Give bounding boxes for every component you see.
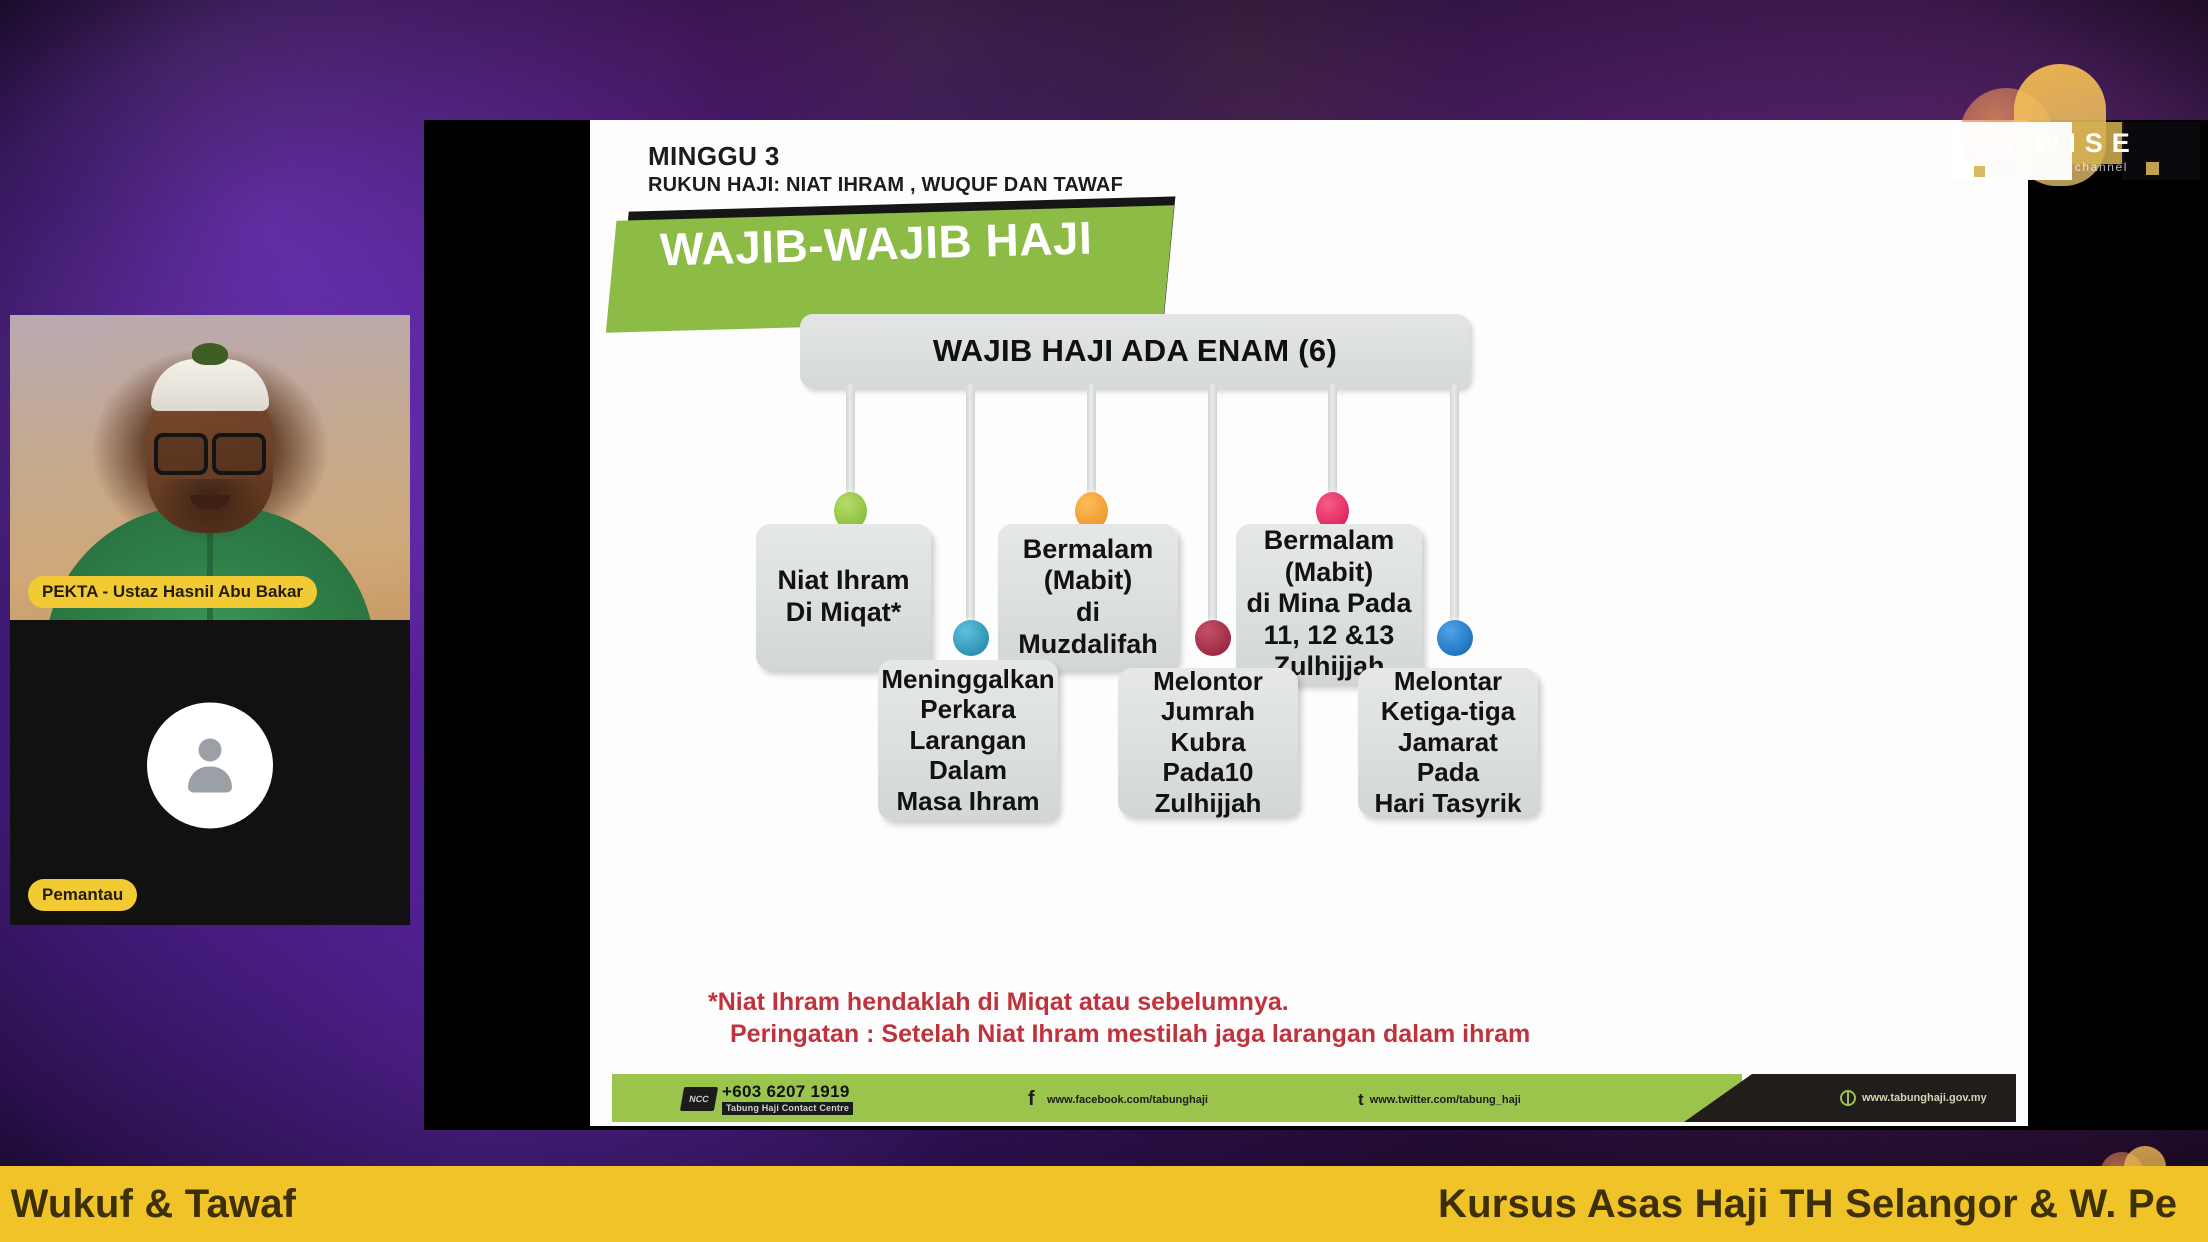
connector-stem-2 xyxy=(966,384,975,629)
node-box-4[interactable]: MelontorJumrah KubraPada10Zulhijjah xyxy=(1118,668,1298,816)
hwise-logo: HWISE youtube channel xyxy=(1952,62,2192,180)
connector-stem-4 xyxy=(1208,384,1217,629)
slide-footnote: *Niat Ihram hendaklah di Miqat atau sebe… xyxy=(708,986,1868,1050)
observer-name-chip: Pemantau xyxy=(28,879,137,911)
connector-stem-5 xyxy=(1328,384,1337,502)
node-dot-4 xyxy=(1195,620,1231,656)
connector-stem-1 xyxy=(846,384,855,502)
ncc-badge-icon: NCC xyxy=(680,1087,718,1111)
footer-website-url: www.tabunghaji.gov.my xyxy=(1862,1092,1987,1104)
person-glasses xyxy=(154,433,266,467)
connector-stem-6 xyxy=(1450,384,1459,629)
slide-footer-bar: NCC +603 6207 1919 Tabung Haji Contact C… xyxy=(612,1074,2016,1122)
participant-video-feed xyxy=(10,315,410,620)
footer-contact-phone: NCC +603 6207 1919 Tabung Haji Contact C… xyxy=(682,1083,853,1115)
presentation-slide[interactable]: MINGGU 3 RUKUN HAJI: NIAT IHRAM , WUQUF … xyxy=(590,120,2028,1126)
person-cap xyxy=(151,359,269,411)
footer-website[interactable]: www.tabunghaji.gov.my xyxy=(1840,1090,1987,1106)
connector-stem-3 xyxy=(1087,384,1096,502)
avatar xyxy=(147,702,273,828)
twitter-icon: t xyxy=(1358,1090,1364,1110)
node-box-5[interactable]: Bermalam(Mabit)di Mina Pada11, 12 &13Zul… xyxy=(1236,524,1422,684)
participant-name-chip: PEKTA - Ustaz Hasnil Abu Bakar xyxy=(28,576,317,608)
person-icon xyxy=(181,736,239,794)
node-box-2[interactable]: MeninggalkanPerkaraLaranganDalamMasa Ihr… xyxy=(878,660,1058,820)
participant-tile-speaker[interactable]: PEKTA - Ustaz Hasnil Abu Bakar xyxy=(10,315,410,620)
footer-facebook[interactable]: f www.facebook.com/tabunghaji xyxy=(1028,1090,1208,1110)
node-dot-2 xyxy=(953,620,989,656)
node-box-3[interactable]: Bermalam(Mabit)di Muzdalifah xyxy=(998,524,1178,670)
footnote-line-2: Peringatan : Setelah Niat Ihram mestilah… xyxy=(708,1018,1868,1050)
footer-twitter-url: www.twitter.com/tabung_haji xyxy=(1370,1094,1521,1106)
logo-wordmark: HWISE xyxy=(1952,128,2192,159)
node-box-1[interactable]: Niat IhramDi Miqat* xyxy=(756,524,931,670)
footer-phone-caption: Tabung Haji Contact Centre xyxy=(722,1102,853,1115)
footer-twitter[interactable]: t www.twitter.com/tabung_haji xyxy=(1358,1090,1521,1110)
footnote-line-1: *Niat Ihram hendaklah di Miqat atau sebe… xyxy=(708,986,1868,1018)
node-dot-6 xyxy=(1437,620,1473,656)
footer-facebook-url: www.facebook.com/tabunghaji xyxy=(1047,1094,1208,1106)
footer-phone-number: +603 6207 1919 xyxy=(722,1083,853,1101)
logo-tagline: youtube channel xyxy=(1952,160,2192,174)
globe-icon xyxy=(1840,1090,1856,1106)
meeting-screen: MINGGU 3 RUKUN HAJI: NIAT IHRAM , WUQUF … xyxy=(0,0,2208,1242)
facebook-icon: f xyxy=(1028,1090,1041,1110)
ticker-text-right: Kursus Asas Haji TH Selangor & W. Pe xyxy=(1438,1182,2177,1227)
ticker-text-left: , Wukuf & Tawaf xyxy=(0,1182,296,1227)
wajib-haji-diagram: Niat IhramDi Miqat* Bermalam(Mabit)di Mu… xyxy=(590,120,2028,1126)
node-box-6[interactable]: MelontarKetiga-tigaJamarat PadaHari Tasy… xyxy=(1358,668,1538,816)
bottom-ticker-bar: , Wukuf & Tawaf Kursus Asas Haji TH Sela… xyxy=(0,1166,2208,1242)
participant-tile-observer[interactable]: Pemantau xyxy=(10,620,410,925)
